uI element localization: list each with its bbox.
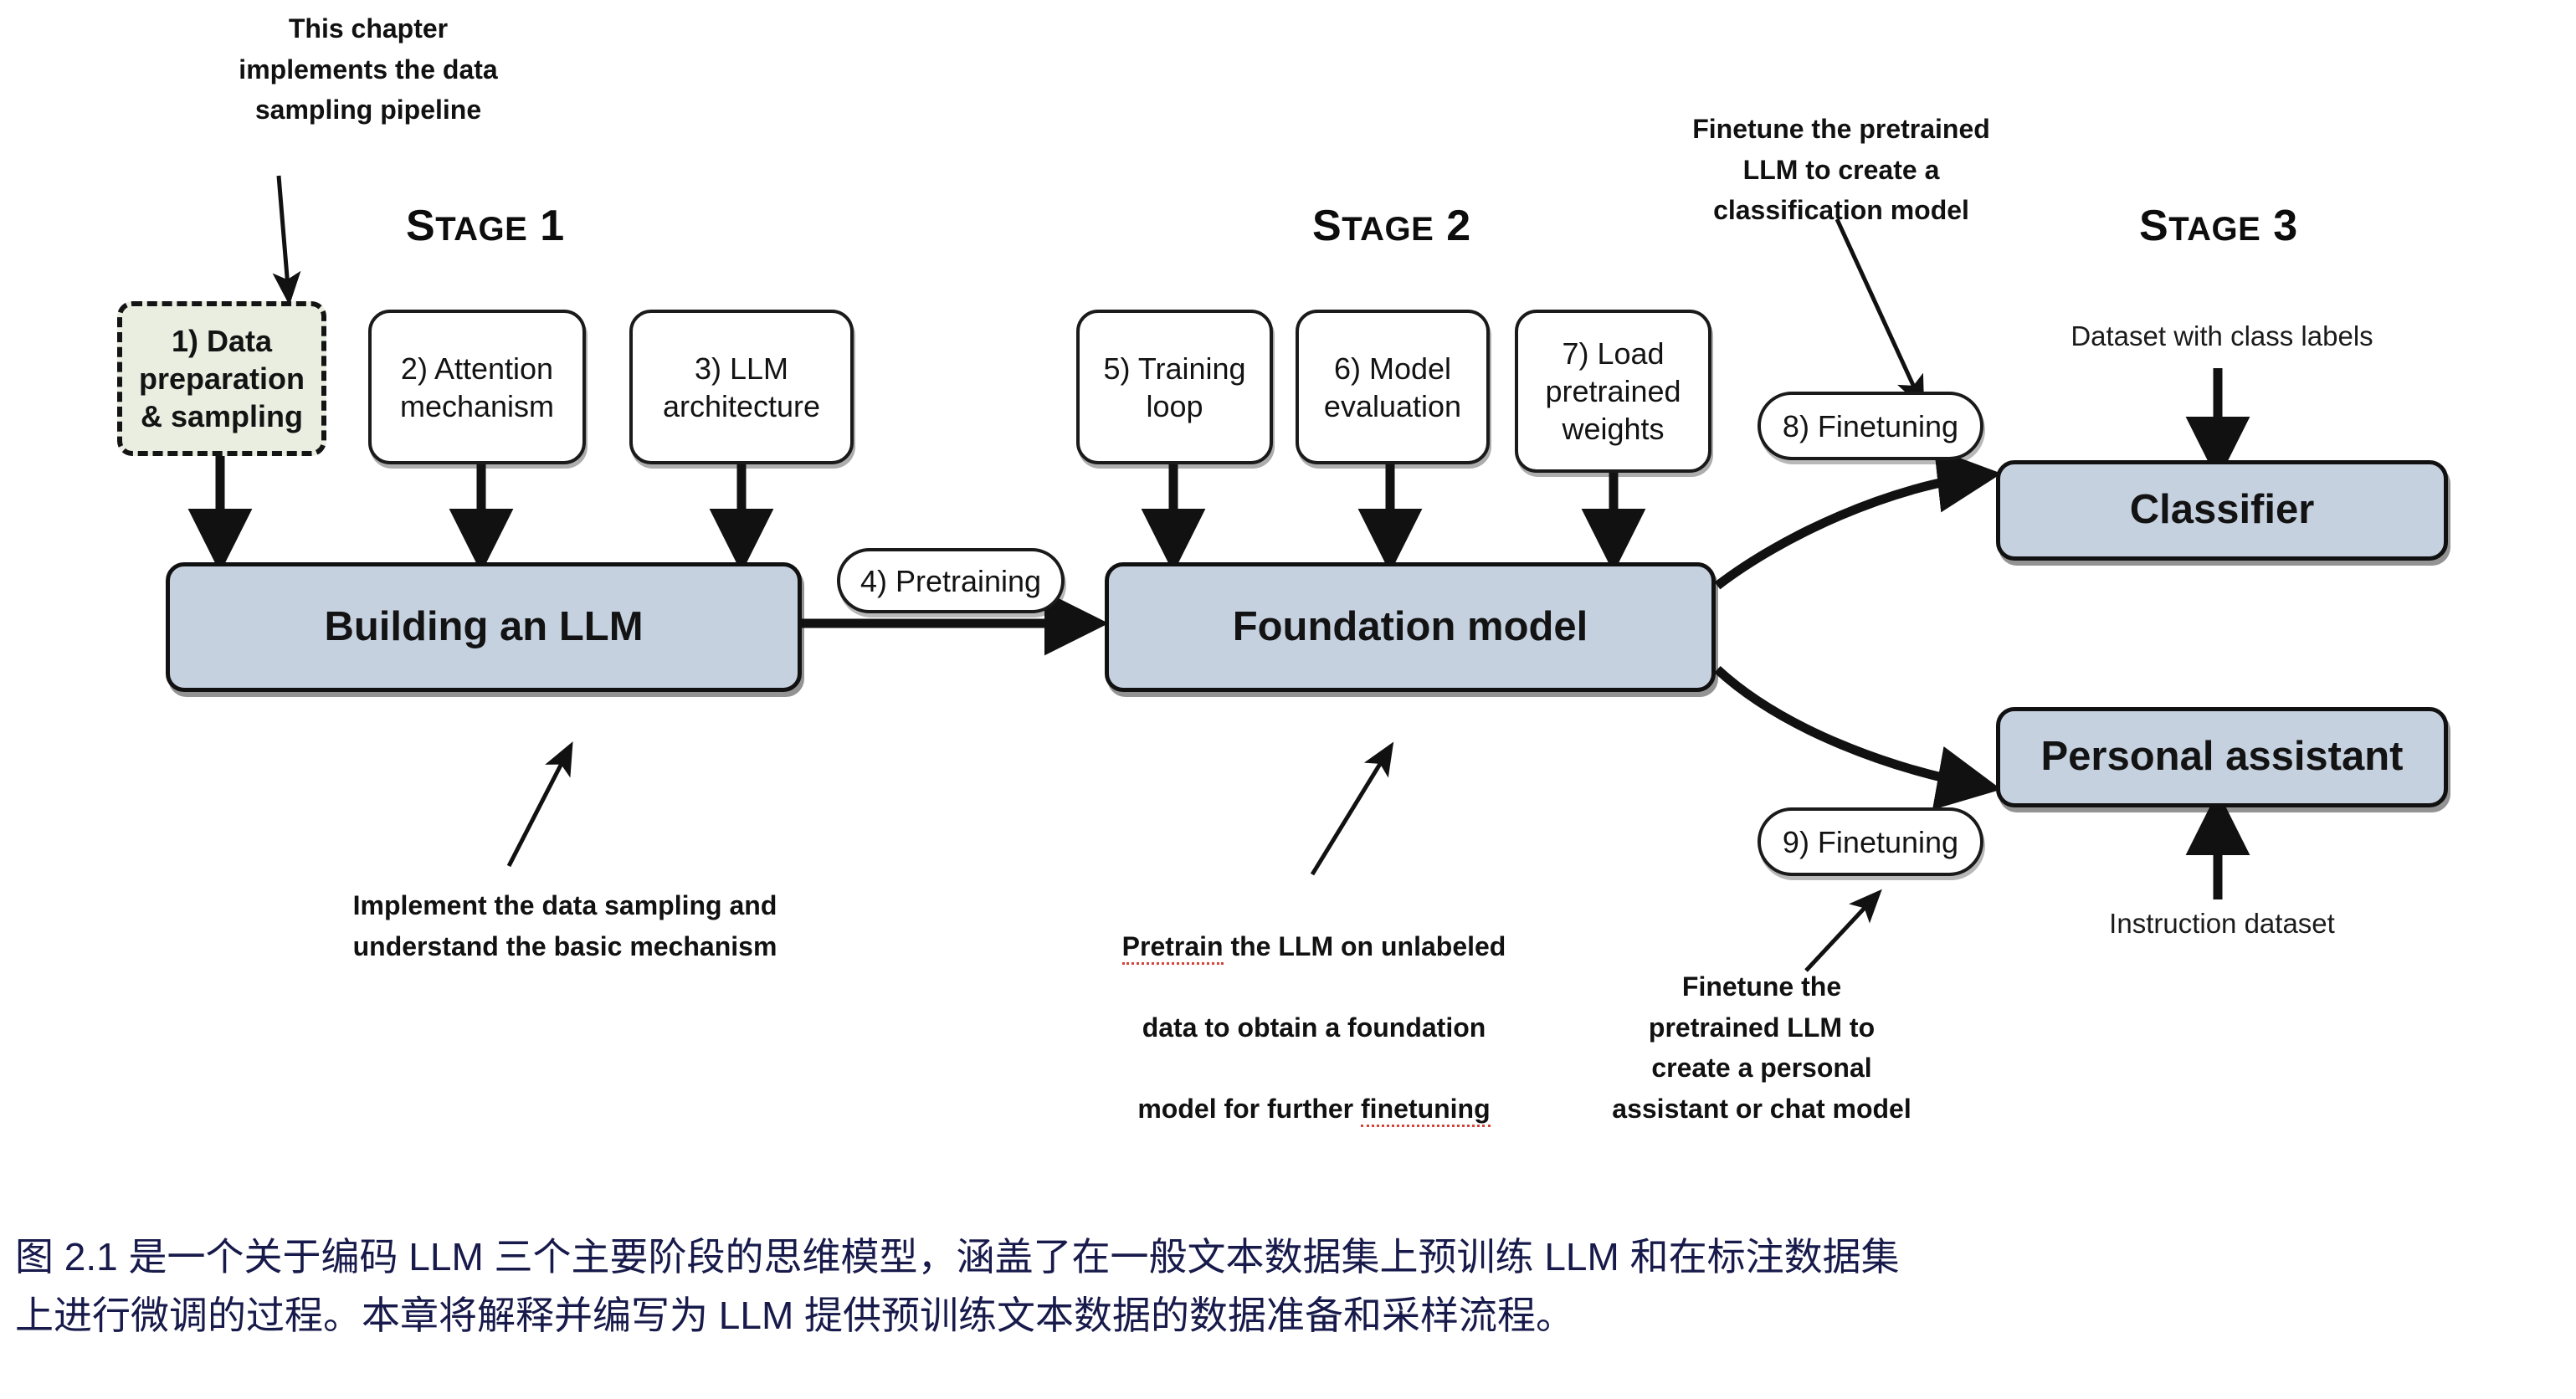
label-dataset-with-class-labels: Dataset with class labels <box>2009 320 2435 352</box>
stage-3-label-rest: TAGE <box>2168 211 2260 248</box>
caption-line-1: 图 2.1 是一个关于编码 LLM 三个主要阶段的思维模型，涵盖了在一般文本数据… <box>15 1228 2568 1287</box>
node-personal-assistant[interactable]: Personal assistant <box>1996 707 2448 807</box>
stage-1-label-rest: TAGE <box>435 211 527 248</box>
arrow-annot-to-finetuning-8 <box>1837 219 1921 402</box>
node-step-6-model-evaluation[interactable]: 6) Model evaluation <box>1296 310 1490 464</box>
annotation-finetuning-word: finetuning <box>1361 1094 1491 1127</box>
stage-2-label-num: 2 <box>1434 202 1470 250</box>
node-pill-8-finetuning[interactable]: 8) Finetuning <box>1758 392 1983 460</box>
arrow-foundation-to-classifier <box>1717 475 1985 586</box>
stage-2-label-first: S <box>1312 202 1342 250</box>
annotation-implement-data-sampling: Implement the data sampling and understa… <box>297 885 833 966</box>
figure-caption: 图 2.1 是一个关于编码 LLM 三个主要阶段的思维模型，涵盖了在一般文本数据… <box>15 1228 2568 1345</box>
node-building-an-llm[interactable]: Building an LLM <box>166 562 802 692</box>
stage-1-label: STAGE 1 <box>406 201 565 251</box>
node-step-5-training-loop[interactable]: 5) Training loop <box>1076 310 1273 464</box>
label-instruction-dataset: Instruction dataset <box>2009 908 2435 940</box>
stage-1-label-num: 1 <box>527 202 564 250</box>
arrow-annot-to-finetuning-9 <box>1806 895 1876 971</box>
node-step-1-data-preparation[interactable]: 1) Data preparation & sampling <box>117 301 326 456</box>
annotation-pretrain-llm: Pretrain the LLM on unlabeled data to ob… <box>1088 885 1540 1130</box>
node-step-7-load-pretrained-weights[interactable]: 7) Load pretrained weights <box>1515 310 1711 473</box>
node-foundation-model[interactable]: Foundation model <box>1105 562 1716 692</box>
figure-diagram: STAGE 1 STAGE 2 STAGE 3 This chapter imp… <box>0 0 2576 1213</box>
arrow-foundation-to-assistant <box>1717 669 1985 787</box>
annotation-pretrain-word: Pretrain <box>1122 931 1224 965</box>
arrow-chapter-to-step1 <box>279 176 289 297</box>
annotation-this-chapter: This chapter implements the data samplin… <box>213 8 523 131</box>
arrow-annot-to-llm <box>509 749 569 866</box>
node-classifier[interactable]: Classifier <box>1996 460 2448 561</box>
node-pill-4-pretraining[interactable]: 4) Pretraining <box>837 548 1065 613</box>
stage-3-label: STAGE 3 <box>2139 201 2298 251</box>
annotation-pretrain-rest1: the LLM on unlabeled <box>1224 931 1506 961</box>
annotation-pretrain-line3a: model for further <box>1137 1094 1361 1124</box>
annotation-finetune-assistant: Finetune the pretrained LLM to create a … <box>1573 966 1950 1130</box>
stage-3-label-first: S <box>2139 202 2168 250</box>
stage-1-label-first: S <box>406 202 435 250</box>
node-pill-9-finetuning[interactable]: 9) Finetuning <box>1758 807 1983 876</box>
stage-2-label: STAGE 2 <box>1312 201 1471 251</box>
node-step-3-llm-architecture[interactable]: 3) LLM architecture <box>629 310 854 464</box>
caption-line-2: 上进行微调的过程。本章将解释并编写为 LLM 提供预训练文本数据的数据准备和采样… <box>15 1287 2568 1345</box>
arrow-annot-to-foundation <box>1312 749 1389 874</box>
annotation-finetune-classification: Finetune the pretrained LLM to create a … <box>1649 109 2034 231</box>
stage-3-label-num: 3 <box>2260 202 2297 250</box>
annotation-pretrain-line2: data to obtain a foundation <box>1142 1012 1486 1043</box>
node-step-2-attention-mechanism[interactable]: 2) Attention mechanism <box>368 310 586 464</box>
stage-2-label-rest: TAGE <box>1342 211 1434 248</box>
